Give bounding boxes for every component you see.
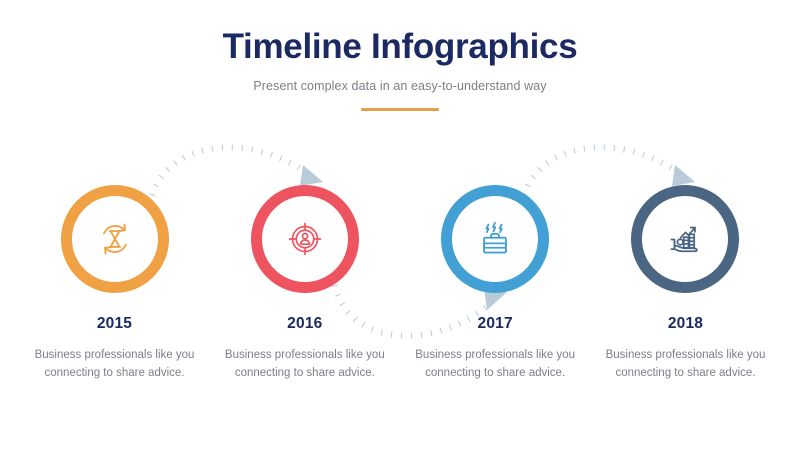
milestone-year-2015: 2015 bbox=[97, 315, 132, 333]
header: Timeline Infographics Present complex da… bbox=[0, 28, 800, 111]
milestone-circle-2015[interactable] bbox=[61, 185, 169, 293]
milestone-circle-2018[interactable] bbox=[631, 185, 739, 293]
milestone-year-2016: 2016 bbox=[287, 315, 322, 333]
hourglass-refresh-icon bbox=[94, 218, 136, 260]
milestone-circle-2016[interactable] bbox=[251, 185, 359, 293]
title-divider bbox=[361, 108, 439, 112]
milestone-description-2017: Business professionals like you connecti… bbox=[415, 346, 575, 382]
slide-canvas: Timeline Infographics Present complex da… bbox=[0, 0, 800, 450]
milestone-description-2015: Business professionals like you connecti… bbox=[35, 346, 195, 382]
timeline-step-2015[interactable]: 2015 Business professionals like you con… bbox=[22, 185, 207, 382]
briefcase-energy-icon bbox=[474, 218, 516, 260]
user-target-icon bbox=[285, 219, 325, 259]
hand-coins-growth-icon bbox=[664, 218, 706, 260]
milestone-description-2018: Business professionals like you connecti… bbox=[605, 346, 765, 382]
timeline-step-2018[interactable]: 2018 Business professionals like you con… bbox=[593, 185, 778, 382]
timeline-step-2016[interactable]: 2016 Business professionals like you con… bbox=[212, 185, 397, 382]
milestone-year-2017: 2017 bbox=[478, 315, 513, 333]
milestone-year-2018: 2018 bbox=[668, 315, 703, 333]
timeline-step-2017[interactable]: 2017 Business professionals like you con… bbox=[403, 185, 588, 382]
milestone-circle-2017[interactable] bbox=[441, 185, 549, 293]
milestone-description-2016: Business professionals like you connecti… bbox=[225, 346, 385, 382]
page-subtitle: Present complex data in an easy-to-under… bbox=[0, 79, 800, 93]
page-title: Timeline Infographics bbox=[0, 28, 800, 67]
timeline-steps: 2015 Business professionals like you con… bbox=[0, 185, 800, 382]
